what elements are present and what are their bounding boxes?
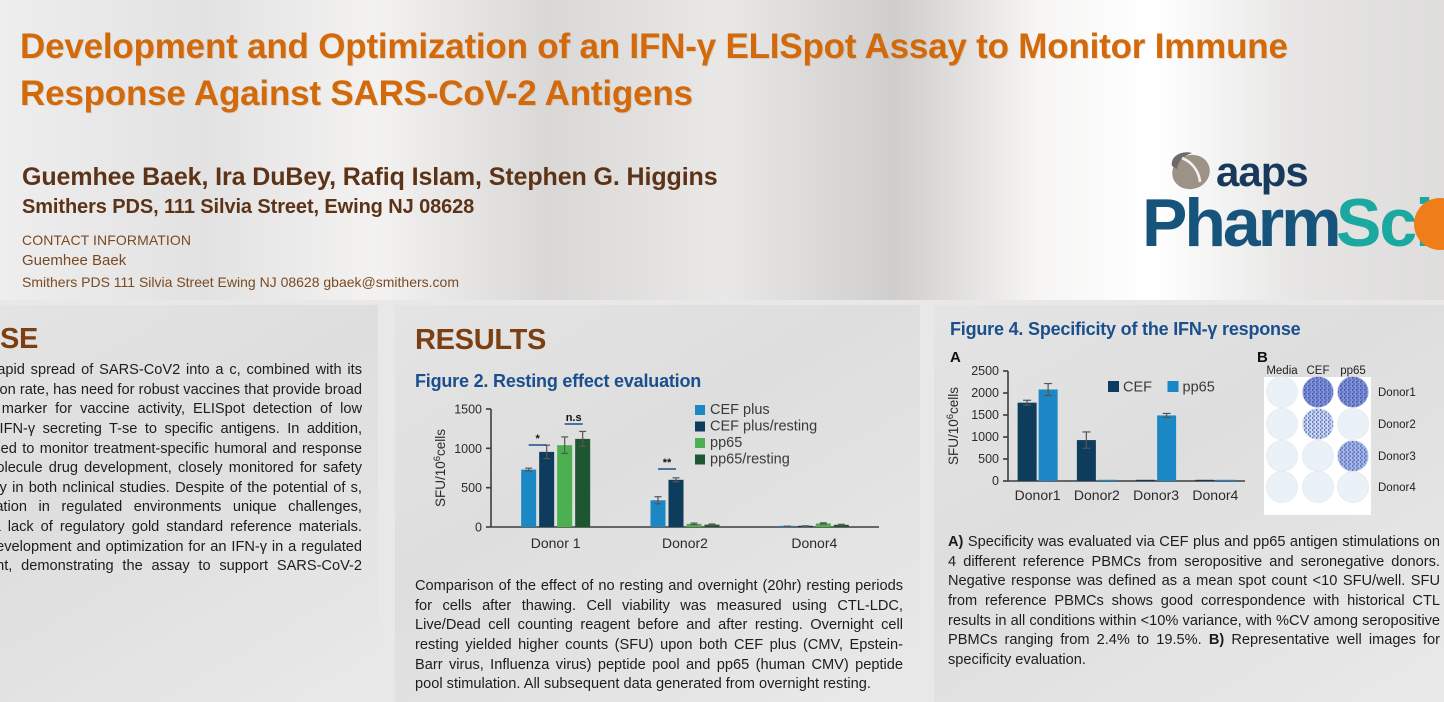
svg-text:1500: 1500 (454, 403, 482, 417)
figure2-caption: Comparison of the effect of no resting a… (415, 577, 903, 695)
contact-information: CONTACT INFORMATION Guemhee Baek Smither… (22, 230, 459, 292)
svg-text:Donor3: Donor3 (1378, 451, 1416, 463)
aaps-pharmsci-logo: aaps Pharm Sci (1148, 150, 1444, 275)
svg-text:pp65: pp65 (1340, 365, 1366, 377)
svg-text:1000: 1000 (971, 430, 999, 444)
svg-text:Donor 1: Donor 1 (531, 535, 581, 551)
svg-text:Donor2: Donor2 (1074, 487, 1120, 503)
author-list: Guemhee Baek, Ira DuBey, Rafiq Islam, St… (22, 163, 718, 192)
svg-text:CEF: CEF (1307, 365, 1330, 377)
svg-text:CEF plus: CEF plus (710, 402, 770, 418)
svg-text:Donor4: Donor4 (1378, 482, 1416, 494)
figure4a-chart: 05001000150020002500SFU/106cellsDonor1Do… (940, 361, 1260, 519)
purpose-panel: SE nted and rapid spread of SARS-CoV2 in… (0, 305, 378, 702)
svg-text:2500: 2500 (971, 364, 999, 378)
svg-text:**: ** (663, 457, 672, 469)
svg-text:SFU/106cells: SFU/106cells (945, 387, 962, 465)
figure4-panel: Figure 4. Specificity of the IFN-γ respo… (934, 305, 1444, 702)
svg-text:1000: 1000 (454, 442, 482, 456)
purpose-heading: SE (0, 323, 38, 356)
figure4b-well-images: MediaCEFpp65Donor1Donor2Donor3Donor4 (1256, 361, 1442, 521)
figure4b-svg: MediaCEFpp65Donor1Donor2Donor3Donor4 (1256, 361, 1442, 521)
figure2-svg: 050010001500SFU/106cellsDonor 1Donor2Don… (399, 397, 919, 575)
svg-text:n.s: n.s (566, 412, 582, 424)
svg-text:*: * (536, 433, 541, 445)
svg-text:pp65/resting: pp65/resting (710, 452, 790, 468)
svg-text:Donor3: Donor3 (1133, 487, 1179, 503)
svg-text:Donor4: Donor4 (791, 535, 837, 551)
svg-text:pp65: pp65 (710, 435, 742, 451)
figure4-heading: Figure 4. Specificity of the IFN-γ respo… (950, 319, 1300, 340)
svg-text:pp65: pp65 (1183, 380, 1215, 396)
svg-text:Donor1: Donor1 (1015, 487, 1061, 503)
affiliation: Smithers PDS, 111 Silvia Street, Ewing N… (22, 196, 474, 219)
results-panel: RESULTS Figure 2. Resting effect evaluat… (395, 305, 920, 702)
poster-header: Development and Optimization of an IFN-γ… (0, 0, 1444, 300)
caption-a-text: Specificity was evaluated via CEF plus a… (948, 534, 1440, 648)
page-title: Development and Optimization of an IFN-γ… (20, 24, 1420, 117)
contact-name: Guemhee Baek (22, 250, 459, 272)
svg-text:CEF plus/resting: CEF plus/resting (710, 419, 817, 435)
svg-text:1500: 1500 (971, 408, 999, 422)
results-heading: RESULTS (415, 324, 546, 357)
purpose-body: nted and rapid spread of SARS-CoV2 into … (0, 361, 362, 597)
svg-text:500: 500 (461, 481, 482, 495)
svg-text:CEF: CEF (1123, 380, 1152, 396)
figure4-caption: A) Specificity was evaluated via CEF plu… (948, 533, 1440, 670)
caption-b-marker: B) (1209, 632, 1224, 648)
figure4a-svg: 05001000150020002500SFU/106cellsDonor1Do… (940, 361, 1260, 519)
svg-text:2000: 2000 (971, 386, 999, 400)
svg-text:SFU/106cells: SFU/106cells (432, 429, 449, 507)
svg-text:Pharm: Pharm (1142, 185, 1339, 261)
svg-text:Donor1: Donor1 (1378, 387, 1416, 399)
svg-text:0: 0 (475, 521, 482, 535)
caption-a-marker: A) (948, 534, 963, 550)
svg-text:Donor2: Donor2 (1378, 419, 1416, 431)
contact-label: CONTACT INFORMATION (22, 230, 459, 250)
svg-text:0: 0 (992, 474, 999, 488)
contact-address: Smithers PDS 111 Silvia Street Ewing NJ … (22, 272, 459, 292)
svg-text:Donor2: Donor2 (662, 535, 708, 551)
figure2-heading: Figure 2. Resting effect evaluation (415, 371, 701, 392)
figure2-chart: 050010001500SFU/106cellsDonor 1Donor2Don… (399, 397, 919, 575)
svg-text:Media: Media (1266, 365, 1298, 377)
svg-text:500: 500 (978, 452, 999, 466)
svg-text:Donor4: Donor4 (1192, 487, 1238, 503)
poster-canvas: Development and Optimization of an IFN-γ… (0, 0, 1444, 702)
